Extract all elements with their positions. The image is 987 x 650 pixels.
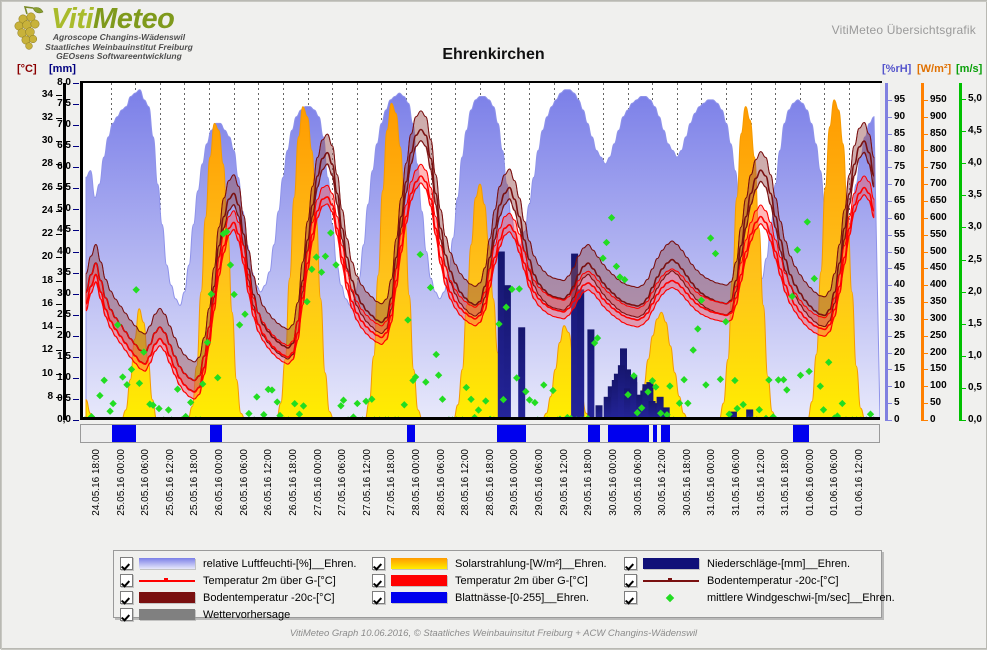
axis-tick-label: 300 (930, 313, 947, 324)
axis-tick-mark (921, 235, 928, 236)
axis-tick-label: 6,0 (41, 161, 71, 172)
axis-tick-mark (885, 252, 892, 253)
axis-tick-mark (959, 99, 966, 100)
axis-tick-label: 6,5 (41, 140, 71, 151)
axis-tick-mark (885, 117, 892, 118)
leaf-wetness-segment (210, 425, 222, 442)
legend-item-air-temp-box[interactable]: Temperatur 2m über G-[°C] (372, 572, 607, 589)
leaf-wetness-segment (112, 425, 137, 442)
axis-tick-mark (959, 420, 966, 421)
axis-tick-label: 15 (894, 363, 905, 374)
x-axis-tick-label: 25.05.16 18:00 (189, 449, 200, 516)
axis-tick-label: 5,0 (968, 93, 982, 104)
axis-tick-label: 10 (894, 380, 905, 391)
axis-tick-mark (885, 386, 892, 387)
axis-tick-mark (56, 304, 62, 305)
axis-tick-mark (885, 184, 892, 185)
axis-tick-label: 75 (894, 161, 905, 172)
axis-tick-label: 2,0 (41, 330, 71, 341)
axis-tick-label: 0,5 (41, 393, 71, 404)
axis-tick-label: 5,0 (41, 203, 71, 214)
brand-name-part-1: Viti (51, 3, 93, 35)
axis-tick-mark (73, 188, 79, 189)
axis-tick-mark (73, 104, 79, 105)
leaf-wetness-segment (661, 425, 669, 442)
axis-tick-mark (73, 273, 79, 274)
axis-tick-mark (921, 285, 928, 286)
axis-tick-label: 450 (930, 262, 947, 273)
legend-swatch-precipitation (643, 558, 699, 569)
legend-label: Solarstrahlung-[W/m²]__Ehren. (455, 558, 607, 570)
brand-name-part-2: Meteo (93, 3, 174, 35)
axis-tick-label: 800 (930, 144, 947, 155)
axis-tick-mark (56, 257, 62, 258)
legend-label: Wettervorhersage (203, 609, 290, 621)
x-axis-tick-label: 27.05.16 00:00 (313, 449, 324, 516)
axis-tick-label: 5,5 (41, 182, 71, 193)
x-axis-tick-label: 26.05.16 00:00 (214, 449, 225, 516)
axis-tick-mark (73, 252, 79, 253)
x-axis-tick-label: 28.05.16 06:00 (436, 449, 447, 516)
axis-tick-mark (921, 420, 928, 421)
axis-tick-label: 400 (930, 279, 947, 290)
axis-tick-label: 550 (930, 229, 947, 240)
axis-tick-label: 2,5 (968, 254, 982, 265)
x-axis-tick-label: 31.05.16 00:00 (706, 449, 717, 516)
legend-swatch-soil-temp-box (139, 592, 195, 603)
brand-name: VitiMeteo (51, 4, 174, 34)
axis-tick-mark (921, 268, 928, 269)
axis-tick-label: 950 (930, 94, 947, 105)
legend-swatch-leaf-wetness (391, 592, 447, 603)
legend-checkbox-precipitation[interactable] (624, 557, 637, 570)
axis-tick-mark (921, 403, 928, 404)
axis-tick-label: 100 (930, 380, 947, 391)
axis-tick-mark (56, 281, 62, 282)
axis-tick-mark (921, 319, 928, 320)
axis-tick-label: 3,0 (968, 221, 982, 232)
axis-tick-label: 7,0 (41, 119, 71, 130)
axis-tick-mark (73, 336, 79, 337)
axis-tick-label: 350 (930, 296, 947, 307)
x-axis-tick-label: 01.06.16 12:00 (854, 449, 865, 516)
legend-label: Niederschläge-[mm]__Ehren. (707, 558, 850, 570)
axis-tick-mark (921, 218, 928, 219)
x-axis-tick-label: 30.05.16 06:00 (633, 449, 644, 516)
axis-tick-mark (921, 100, 928, 101)
axis-tick-label: 1,5 (41, 351, 71, 362)
axis-tick-mark (73, 146, 79, 147)
legend-checkbox-leaf-wetness[interactable] (372, 591, 385, 604)
legend-checkbox-soil-temp-line[interactable] (624, 574, 637, 587)
legend-item-precipitation[interactable]: Niederschläge-[mm]__Ehren. (624, 555, 895, 572)
axis-tick-label: 70 (894, 178, 905, 189)
axis-tick-label: 65 (894, 195, 905, 206)
axis-tick-label: 200 (930, 347, 947, 358)
legend-checkbox-air-temp-line[interactable] (120, 574, 133, 587)
axis-tick-label: 2,5 (41, 309, 71, 320)
x-axis-labels: 24.05.16 18:0025.05.16 00:0025.05.16 06:… (80, 447, 880, 535)
axis-tick-mark (885, 167, 892, 168)
axis-tick-label: 0 (930, 414, 936, 425)
axis-tick-mark (921, 369, 928, 370)
legend-swatch-soil-temp-line (643, 575, 699, 586)
chart-plot-area (80, 83, 880, 420)
axis-tick-mark (885, 319, 892, 320)
axis-tick-label: 2,0 (968, 286, 982, 297)
axis-tick-label: 700 (930, 178, 947, 189)
axis-tick-mark (921, 353, 928, 354)
axis-tick-mark (73, 399, 79, 400)
legend-column-1: relative Luftfeuchti-[%]__Ehren.Temperat… (120, 555, 356, 623)
legend-column-3: Niederschläge-[mm]__Ehren.Bodentemperatu… (624, 555, 895, 606)
axis-tick-label: 80 (894, 144, 905, 155)
legend-label: Bodentemperatur -20c-[°C] (707, 575, 839, 587)
x-axis-tick-label: 30.05.16 00:00 (608, 449, 619, 516)
axis-tick-label: 3,0 (41, 288, 71, 299)
x-axis-tick-label: 30.05.16 18:00 (682, 449, 693, 516)
axis-tick-label: 90 (894, 111, 905, 122)
axis-tick-mark (885, 150, 892, 151)
legend-item-air-temp-line[interactable]: Temperatur 2m über G-[°C] (120, 572, 356, 589)
axis-tick-mark (885, 336, 892, 337)
legend-label: Temperatur 2m über G-[°C] (455, 575, 588, 587)
axis-tick-mark (959, 163, 966, 164)
axis-tick-mark (885, 235, 892, 236)
axis-tick-mark (959, 195, 966, 196)
vitimeteo-overview-graph: VitiMeteo Agroscope Changins-Wädenswil S… (0, 0, 987, 649)
legend-swatch-air-temp-line (139, 575, 195, 586)
axis-tick-label: 250 (930, 330, 947, 341)
axis-tick-label: 750 (930, 161, 947, 172)
unit-caption-precipitation: [mm] (49, 63, 76, 75)
leaf-wetness-strip (80, 424, 880, 443)
axis-tick-mark (959, 356, 966, 357)
axis-tick-mark (885, 100, 892, 101)
axis-tick-mark (885, 353, 892, 354)
axis-tick-mark (885, 369, 892, 370)
legend-checkbox-air-temp-box[interactable] (372, 574, 385, 587)
axis-tick-label: 900 (930, 111, 947, 122)
axis-tick-label: 3,5 (968, 189, 982, 200)
axis-tick-label: 40 (894, 279, 905, 290)
axis-tick-label: 50 (894, 246, 905, 257)
axis-tick-label: 50 (930, 397, 941, 408)
unit-caption-radiation: [W/m²] (917, 63, 951, 75)
axis-tick-mark (959, 227, 966, 228)
leaf-wetness-segment (497, 425, 526, 442)
axis-tick-mark (921, 167, 928, 168)
legend-label: Blattnässe-[0-255]__Ehren. (455, 592, 589, 604)
axis-tick-label: 1,5 (968, 318, 982, 329)
legend-item-mean-wind-speed[interactable]: mittlere Windgeschwi-[m/sec]__Ehren. (624, 589, 895, 606)
axis-tick-label: 20 (894, 347, 905, 358)
axis-tick-mark (921, 252, 928, 253)
x-axis-tick-label: 24.05.16 18:00 (91, 449, 102, 516)
axis-tick-mark (73, 209, 79, 210)
axis-tick-mark (73, 125, 79, 126)
leaf-wetness-segment (653, 425, 657, 442)
legend-item-leaf-wetness[interactable]: Blattnässe-[0-255]__Ehren. (372, 589, 607, 606)
axis-tick-label: 95 (894, 94, 905, 105)
legend-checkbox-solar-radiation[interactable] (372, 557, 385, 570)
legend-label: mittlere Windgeschwi-[m/sec]__Ehren. (707, 592, 895, 604)
axis-tick-label: 25 (894, 330, 905, 341)
axis-tick-mark (73, 420, 79, 421)
legend-checkbox-forecast[interactable] (120, 608, 133, 621)
legend-label: Bodentemperatur -20c-[°C] (203, 592, 335, 604)
axis-tick-mark (921, 184, 928, 185)
leaf-wetness-segment (407, 425, 415, 442)
axis-tick-mark (73, 167, 79, 168)
axis-tick-label: 3,5 (41, 267, 71, 278)
x-axis-tick-label: 26.05.16 18:00 (288, 449, 299, 516)
x-axis-tick-label: 31.05.16 12:00 (756, 449, 767, 516)
leaf-wetness-segment (793, 425, 809, 442)
legend-column-2: Solarstrahlung-[W/m²]__Ehren.Temperatur … (372, 555, 607, 606)
x-axis-tick-label: 01.06.16 06:00 (829, 449, 840, 516)
axis-tick-mark (921, 201, 928, 202)
x-axis-tick-label: 28.05.16 18:00 (485, 449, 496, 516)
axis-tick-label: 55 (894, 229, 905, 240)
axis-tick-mark (921, 134, 928, 135)
x-axis-tick-label: 31.05.16 18:00 (780, 449, 791, 516)
legend-item-humidity[interactable]: relative Luftfeuchti-[%]__Ehren. (120, 555, 356, 572)
x-axis-tick-label: 29.05.16 00:00 (509, 449, 520, 516)
x-axis-tick-label: 01.06.16 00:00 (805, 449, 816, 516)
axis-bar-wind (959, 83, 962, 420)
x-axis-tick-label: 26.05.16 06:00 (239, 449, 250, 516)
unit-caption-humidity: [%rH] (882, 63, 911, 75)
axis-tick-mark (56, 327, 62, 328)
axis-tick-label: 150 (930, 363, 947, 374)
axis-tick-label: 4,5 (968, 125, 982, 136)
legend-swatch-mean-wind-speed (643, 592, 699, 603)
axis-tick-label: 45 (894, 262, 905, 273)
x-axis-tick-label: 27.05.16 06:00 (337, 449, 348, 516)
axis-tick-label: 60 (894, 212, 905, 223)
x-axis-tick-label: 26.05.16 12:00 (263, 449, 274, 516)
axis-tick-label: 35 (894, 296, 905, 307)
legend-swatch-humidity (139, 558, 195, 569)
axis-tick-label: 0,5 (968, 382, 982, 393)
legend-swatch-solar-radiation (391, 558, 447, 569)
axis-tick-mark (921, 386, 928, 387)
legend-item-forecast[interactable]: Wettervorhersage (120, 606, 356, 623)
legend-item-soil-temp-box[interactable]: Bodentemperatur -20c-[°C] (120, 589, 356, 606)
axis-tick-mark (73, 294, 79, 295)
axis-tick-mark (959, 131, 966, 132)
x-axis-tick-label: 31.05.16 06:00 (731, 449, 742, 516)
x-axis-tick-label: 25.05.16 00:00 (116, 449, 127, 516)
axis-tick-mark (885, 420, 892, 421)
axis-tick-mark (73, 315, 79, 316)
axis-tick-label: 4,5 (41, 224, 71, 235)
axis-tick-mark (56, 95, 62, 96)
axis-tick-mark (885, 302, 892, 303)
axis-tick-mark (885, 201, 892, 202)
legend-label: Temperatur 2m über G-[°C] (203, 575, 336, 587)
axis-tick-label: 7,5 (41, 98, 71, 109)
axis-tick-label: 600 (930, 212, 947, 223)
plot-top-border (80, 81, 882, 83)
legend-checkbox-mean-wind-speed[interactable] (624, 591, 637, 604)
unit-caption-temperature: [°C] (17, 63, 37, 75)
axis-tick-mark (885, 268, 892, 269)
x-axis-tick-label: 29.05.16 06:00 (534, 449, 545, 516)
axis-tick-mark (885, 403, 892, 404)
legend-label: relative Luftfeuchti-[%]__Ehren. (203, 558, 356, 570)
axis-tick-mark (921, 302, 928, 303)
leaf-wetness-segment (588, 425, 600, 442)
axis-tick-mark (73, 378, 79, 379)
axis-tick-mark (959, 292, 966, 293)
leaf-wetness-segment (608, 425, 649, 442)
axis-tick-mark (921, 117, 928, 118)
axis-tick-mark (959, 324, 966, 325)
legend-swatch-forecast (139, 609, 195, 620)
axis-tick-label: 30 (894, 313, 905, 324)
axis-tick-label: 0,0 (968, 414, 982, 425)
unit-caption-wind: [m/s] (956, 63, 982, 75)
x-axis-tick-label: 27.05.16 18:00 (386, 449, 397, 516)
axis-tick-label: 650 (930, 195, 947, 206)
axis-tick-mark (73, 83, 79, 84)
axis-tick-label: 4,0 (968, 157, 982, 168)
axis-tick-label: 0,0 (41, 414, 71, 425)
x-axis-tick-label: 27.05.16 12:00 (362, 449, 373, 516)
legend-checkbox-soil-temp-box[interactable] (120, 591, 133, 604)
legend-swatch-air-temp-box (391, 575, 447, 586)
axis-tick-mark (921, 336, 928, 337)
axis-tick-mark (885, 285, 892, 286)
brand-logo: VitiMeteo Agroscope Changins-Wädenswil S… (7, 5, 207, 51)
overview-tag: VitiMeteo Übersichtsgrafik (832, 23, 976, 37)
axis-tick-label: 16 (23, 298, 53, 309)
x-axis-tick-label: 25.05.16 06:00 (140, 449, 151, 516)
axis-tick-mark (73, 357, 79, 358)
x-axis-tick-label: 28.05.16 00:00 (411, 449, 422, 516)
legend-item-solar-radiation[interactable]: Solarstrahlung-[W/m²]__Ehren. (372, 555, 607, 572)
axis-tick-label: 85 (894, 128, 905, 139)
axis-tick-mark (73, 230, 79, 231)
x-axis-tick-label: 25.05.16 12:00 (165, 449, 176, 516)
footer-credit: VitiMeteo Graph 10.06.2016, © Staatliche… (1, 628, 986, 639)
axis-tick-mark (885, 218, 892, 219)
axis-tick-label: 0 (894, 414, 900, 425)
axis-tick-label: 4,0 (41, 246, 71, 257)
x-axis-tick-label: 29.05.16 18:00 (583, 449, 594, 516)
axis-tick-label: 850 (930, 128, 947, 139)
chart-legend: relative Luftfeuchti-[%]__Ehren.Temperat… (113, 550, 882, 618)
axis-tick-label: 5 (894, 397, 900, 408)
axis-tick-mark (959, 388, 966, 389)
axis-tick-mark (959, 260, 966, 261)
axis-tick-mark (885, 134, 892, 135)
legend-checkbox-humidity[interactable] (120, 557, 133, 570)
legend-item-soil-temp-line[interactable]: Bodentemperatur -20c-[°C] (624, 572, 895, 589)
page-title: Ehrenkirchen (1, 46, 986, 64)
axis-tick-label: 1,0 (968, 350, 982, 361)
x-axis-tick-label: 29.05.16 12:00 (559, 449, 570, 516)
axis-tick-label: 500 (930, 246, 947, 257)
x-axis-tick-label: 30.05.16 12:00 (657, 449, 668, 516)
x-axis-tick-label: 28.05.16 12:00 (460, 449, 471, 516)
axis-tick-label: 1,0 (41, 372, 71, 383)
axis-tick-label: 8,0 (41, 77, 71, 88)
axis-tick-mark (921, 150, 928, 151)
